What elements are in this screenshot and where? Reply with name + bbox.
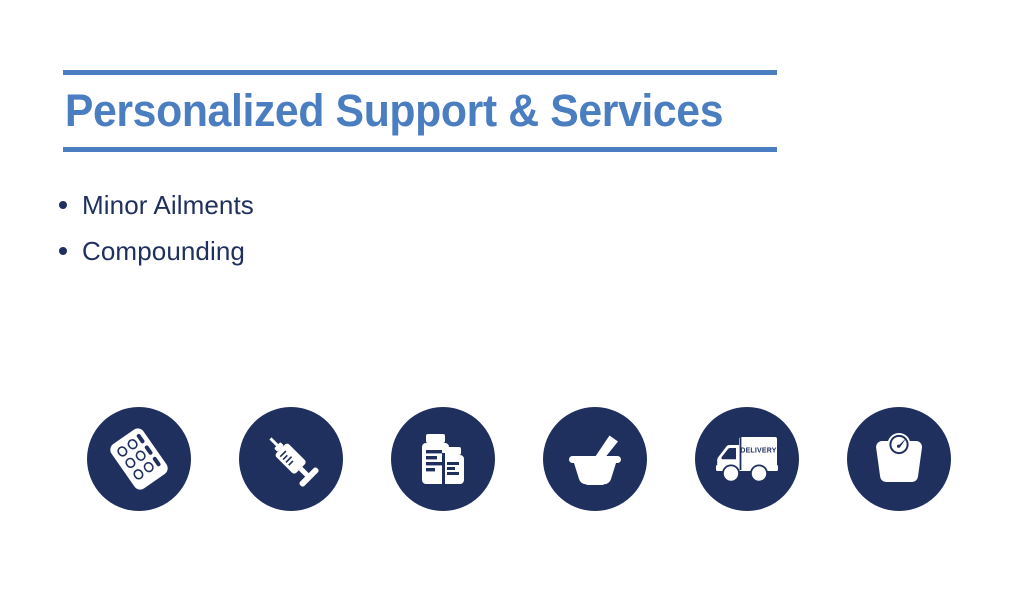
mortar-and-pestle-icon <box>563 427 627 491</box>
list-item: Compounding <box>56 228 254 274</box>
pill-bottles-icon <box>411 427 475 491</box>
bullet-dot-icon <box>59 201 67 209</box>
icon-badge-weight-scale <box>847 407 951 511</box>
slide: Personalized Support & Services Minor Ai… <box>0 0 1025 590</box>
icon-badge-syringe <box>239 407 343 511</box>
delivery-truck-label: DELIVERY <box>740 448 776 455</box>
bullet-label: Minor Ailments <box>82 190 254 220</box>
syringe-icon <box>259 427 323 491</box>
icon-badge-pill-bottles <box>391 407 495 511</box>
weight-scale-icon <box>867 427 931 491</box>
icon-badge-delivery-truck: DELIVERY <box>695 407 799 511</box>
icon-badge-blister-pack <box>87 407 191 511</box>
page-title: Personalized Support & Services <box>63 75 741 147</box>
icon-badge-mortar-pestle <box>543 407 647 511</box>
delivery-truck-icon: DELIVERY <box>712 427 782 491</box>
bullet-label: Compounding <box>82 236 245 266</box>
icon-row: DELIVERY <box>87 407 951 511</box>
title-block: Personalized Support & Services <box>63 70 777 152</box>
list-item: Minor Ailments <box>56 182 254 228</box>
bullet-dot-icon <box>59 247 67 255</box>
bullet-list: Minor Ailments Compounding <box>56 182 254 274</box>
blister-pack-icon <box>106 426 172 492</box>
title-rule-bottom <box>63 147 777 152</box>
